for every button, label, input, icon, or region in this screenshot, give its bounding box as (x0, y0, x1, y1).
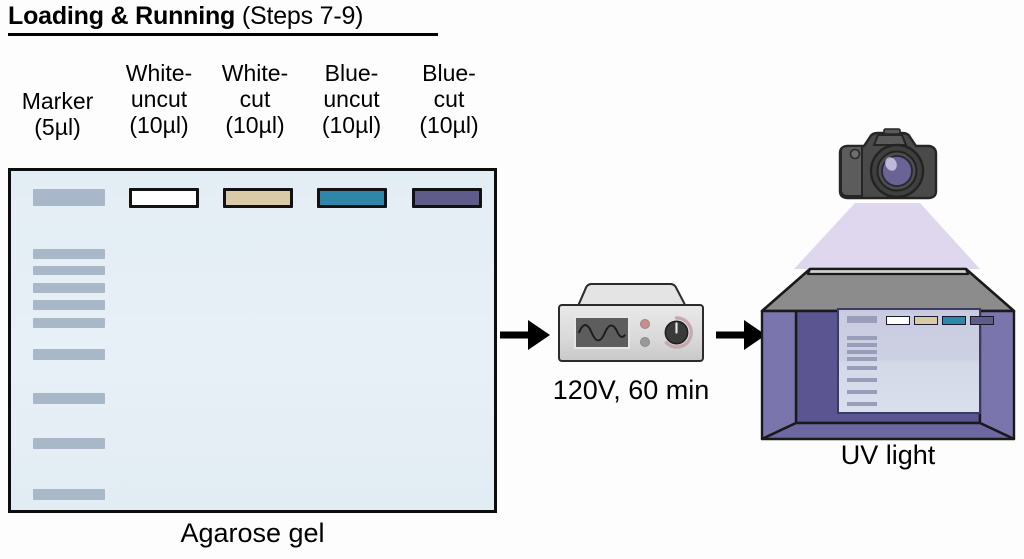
lane-header-white-cut: White- cut (10µl) (203, 60, 307, 138)
ladder-band (33, 266, 105, 275)
ladder-band (33, 189, 105, 206)
arrow-shaft (716, 332, 746, 339)
ladder-band (33, 349, 105, 360)
power-supply-caption: 120V, 60 min (516, 375, 746, 406)
lane-header-marker: Marker (5µl) (0, 88, 115, 140)
uv-caption: UV light (752, 440, 1024, 471)
well-white-cut[interactable] (223, 188, 293, 208)
mini-ladder-band (847, 316, 877, 323)
mini-ladder-band (847, 336, 877, 340)
ladder-band (33, 489, 105, 500)
ladder-band (33, 283, 105, 293)
lane-header-blue-uncut: Blue- uncut (10µl) (300, 60, 403, 138)
gel-caption: Agarose gel (8, 518, 497, 549)
lane-header-white-uncut: White- uncut (10µl) (104, 60, 214, 138)
arrow-gel-to-psu (500, 330, 550, 340)
title-main: Loading & Running (8, 2, 235, 30)
mini-ladder-band (847, 357, 877, 361)
camera-icon (828, 125, 946, 211)
status-led-indicator (640, 337, 650, 347)
mini-well-blue-cut (970, 316, 994, 325)
well-blue-cut[interactable] (412, 188, 482, 208)
mini-well-blue-uncut (942, 316, 966, 325)
mini-ladder-band (847, 390, 877, 394)
mini-ladder-band (847, 378, 877, 382)
mini-ladder-band (847, 343, 877, 347)
mini-ladder-band (847, 350, 877, 354)
ladder-band (33, 318, 105, 328)
mini-well-white-uncut (886, 316, 910, 325)
well-white-uncut[interactable] (129, 188, 199, 208)
mini-ladder-band (847, 402, 877, 406)
diagram-canvas: Loading & Running (Steps 7-9) Marker (5µ… (0, 0, 1024, 559)
page-title: Loading & Running (Steps 7-9) (8, 2, 438, 36)
power-led-indicator (640, 319, 650, 329)
title-steps: (Steps 7-9) (235, 2, 363, 30)
arrow-shaft (500, 332, 530, 339)
uv-gel-preview (837, 308, 981, 414)
mini-well-white-cut (914, 316, 938, 325)
lane-header-blue-cut: Blue- cut (10µl) (399, 60, 499, 138)
ladder-band (33, 393, 105, 404)
ladder-band (33, 300, 105, 310)
power-supply (551, 283, 711, 365)
power-supply-display (574, 316, 630, 349)
uv-transilluminator (752, 125, 1024, 445)
arrow-head (528, 320, 550, 350)
mini-ladder-band (847, 366, 877, 370)
agarose-gel (8, 168, 497, 513)
ladder-band (33, 249, 105, 259)
voltage-knob[interactable] (660, 316, 693, 349)
ladder-band (33, 438, 105, 449)
power-supply-body (558, 304, 704, 362)
well-blue-uncut[interactable] (317, 188, 387, 208)
